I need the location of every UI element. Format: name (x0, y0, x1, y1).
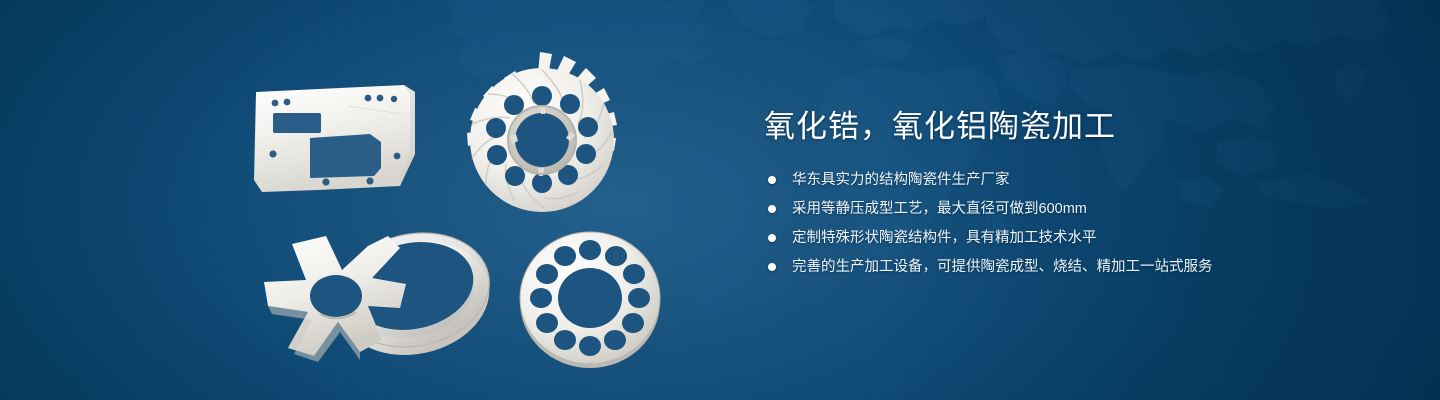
feature-list-item: 采用等静压成型工艺，最大直径可做到600mm (768, 199, 1364, 220)
product-perforated-ceramic-disc (516, 228, 664, 370)
product-machined-ceramic-plate (252, 82, 430, 197)
feature-text: 定制特殊形状陶瓷结构件，具有精加工技术水平 (792, 230, 1097, 246)
bullet-dot-icon (768, 234, 776, 242)
product-cross-part-and-ring (248, 222, 518, 367)
banner-headline: 氧化锆，氧化铝陶瓷加工 (764, 108, 1364, 146)
feature-list: 华东具实力的结构陶瓷件生产厂家 采用等静压成型工艺，最大直径可做到600mm 定… (768, 170, 1364, 278)
bullet-dot-icon (768, 205, 776, 213)
product-image-group (0, 0, 720, 400)
feature-list-item: 完善的生产加工设备，可提供陶瓷成型、烧结、精加工一站式服务 (768, 257, 1364, 278)
banner-copy: 氧化锆，氧化铝陶瓷加工 华东具实力的结构陶瓷件生产厂家 采用等静压成型工艺，最大… (764, 108, 1364, 278)
feature-text: 采用等静压成型工艺，最大直径可做到600mm (792, 201, 1087, 217)
product-ceramic-impeller (452, 50, 632, 230)
feature-text: 华东具实力的结构陶瓷件生产厂家 (792, 172, 1010, 188)
bullet-dot-icon (768, 176, 776, 184)
bullet-dot-icon (768, 263, 776, 271)
feature-text: 完善的生产加工设备，可提供陶瓷成型、烧结、精加工一站式服务 (792, 259, 1213, 275)
promo-banner: 氧化锆，氧化铝陶瓷加工 华东具实力的结构陶瓷件生产厂家 采用等静压成型工艺，最大… (0, 0, 1440, 400)
feature-list-item: 定制特殊形状陶瓷结构件，具有精加工技术水平 (768, 228, 1364, 249)
feature-list-item: 华东具实力的结构陶瓷件生产厂家 (768, 170, 1364, 191)
